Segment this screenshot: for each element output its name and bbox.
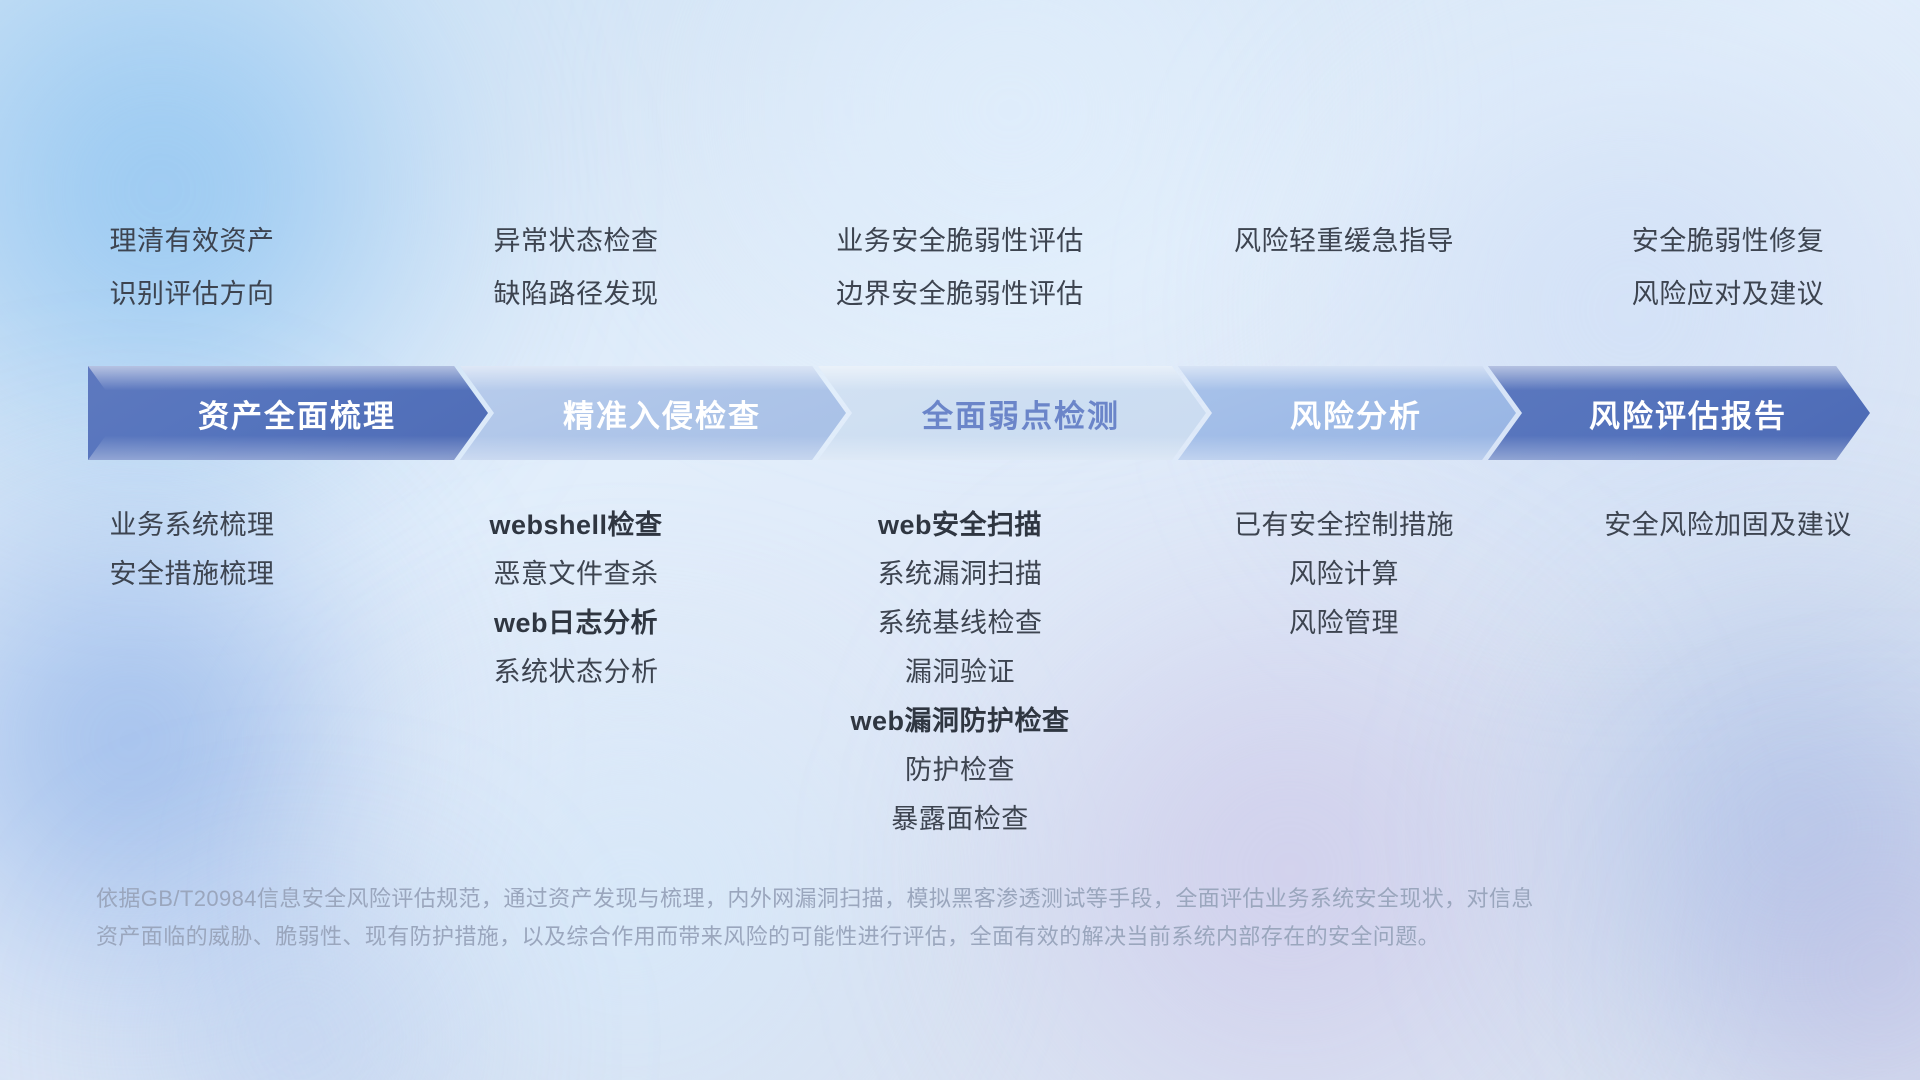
activity-item: 暴露面检查 [768, 806, 1152, 833]
activity-list-row: 业务系统梳理 安全措施梳理 webshell检查 恶意文件查杀 web日志分析 … [0, 512, 1920, 855]
outcome-column-3: 业务安全脆弱性评估 边界安全脆弱性评估 [768, 228, 1152, 334]
footer-line-1: 依据GB/T20984信息安全风险评估规范，通过资产发现与梳理，内外网漏洞扫描，… [96, 880, 1796, 918]
stage-title: 风险评估报告 [1571, 391, 1787, 436]
stage-chevron-banner: 资产全面梳理 精准入侵检查 全面弱点检测 风险分析 风险评估报告 [88, 366, 1854, 460]
outcome-item: 识别评估方向 [0, 281, 384, 308]
activity-column-4: 已有安全控制措施 风险计算 风险管理 [1152, 512, 1536, 659]
activity-item: 安全风险加固及建议 [1536, 512, 1920, 539]
outcome-item: 风险轻重缓急指导 [1152, 228, 1536, 255]
activity-item: web漏洞防护检查 [768, 708, 1152, 735]
outcome-label-row: 理清有效资产 识别评估方向 异常状态检查 缺陷路径发现 业务安全脆弱性评估 边界… [0, 228, 1920, 334]
activity-item: 安全措施梳理 [0, 561, 384, 588]
activity-item: webshell检查 [384, 512, 768, 539]
outcome-column-2: 异常状态检查 缺陷路径发现 [384, 228, 768, 334]
footer-description: 依据GB/T20984信息安全风险评估规范，通过资产发现与梳理，内外网漏洞扫描，… [96, 880, 1796, 956]
outcome-column-5: 安全脆弱性修复 风险应对及建议 [1536, 228, 1920, 334]
process-diagram: 理清有效资产 识别评估方向 异常状态检查 缺陷路径发现 业务安全脆弱性评估 边界… [0, 0, 1920, 1080]
outcome-item: 边界安全脆弱性评估 [768, 281, 1152, 308]
activity-item: 漏洞验证 [768, 659, 1152, 686]
activity-column-2: webshell检查 恶意文件查杀 web日志分析 系统状态分析 [384, 512, 768, 708]
outcome-item: 业务安全脆弱性评估 [768, 228, 1152, 255]
outcome-column-1: 理清有效资产 识别评估方向 [0, 228, 384, 334]
outcome-item: 缺陷路径发现 [384, 281, 768, 308]
activity-item: 业务系统梳理 [0, 512, 384, 539]
activity-item: 恶意文件查杀 [384, 561, 768, 588]
activity-column-5: 安全风险加固及建议 [1536, 512, 1920, 561]
activity-column-1: 业务系统梳理 安全措施梳理 [0, 512, 384, 610]
activity-item: 防护检查 [768, 757, 1152, 784]
stage-title: 精准入侵检查 [545, 391, 761, 436]
stage-title: 资产全面梳理 [180, 391, 396, 436]
outcome-item: 安全脆弱性修复 [1536, 228, 1920, 255]
stage-chevron-1[interactable]: 资产全面梳理 [88, 366, 488, 460]
stage-chevron-5[interactable]: 风险评估报告 [1488, 366, 1870, 460]
activity-column-3: web安全扫描 系统漏洞扫描 系统基线检查 漏洞验证 web漏洞防护检查 防护检… [768, 512, 1152, 855]
activity-item: 系统漏洞扫描 [768, 561, 1152, 588]
outcome-column-4: 风险轻重缓急指导 [1152, 228, 1536, 334]
activity-item: 风险计算 [1152, 561, 1536, 588]
stage-title: 风险分析 [1272, 391, 1422, 436]
activity-item: web日志分析 [384, 610, 768, 637]
outcome-item: 理清有效资产 [0, 228, 384, 255]
outcome-item: 异常状态检查 [384, 228, 768, 255]
stage-chevron-4[interactable]: 风险分析 [1178, 366, 1516, 460]
outcome-item: 风险应对及建议 [1536, 281, 1920, 308]
stage-chevron-2[interactable]: 精准入侵检查 [460, 366, 846, 460]
stage-chevron-3[interactable]: 全面弱点检测 [818, 366, 1206, 460]
activity-item: web安全扫描 [768, 512, 1152, 539]
footer-line-2: 资产面临的威胁、脆弱性、现有防护措施，以及综合作用而带来风险的可能性进行评估，全… [96, 918, 1796, 956]
activity-item: 系统状态分析 [384, 659, 768, 686]
activity-item: 已有安全控制措施 [1152, 512, 1536, 539]
stage-title: 全面弱点检测 [904, 391, 1120, 436]
activity-item: 风险管理 [1152, 610, 1536, 637]
activity-item: 系统基线检查 [768, 610, 1152, 637]
